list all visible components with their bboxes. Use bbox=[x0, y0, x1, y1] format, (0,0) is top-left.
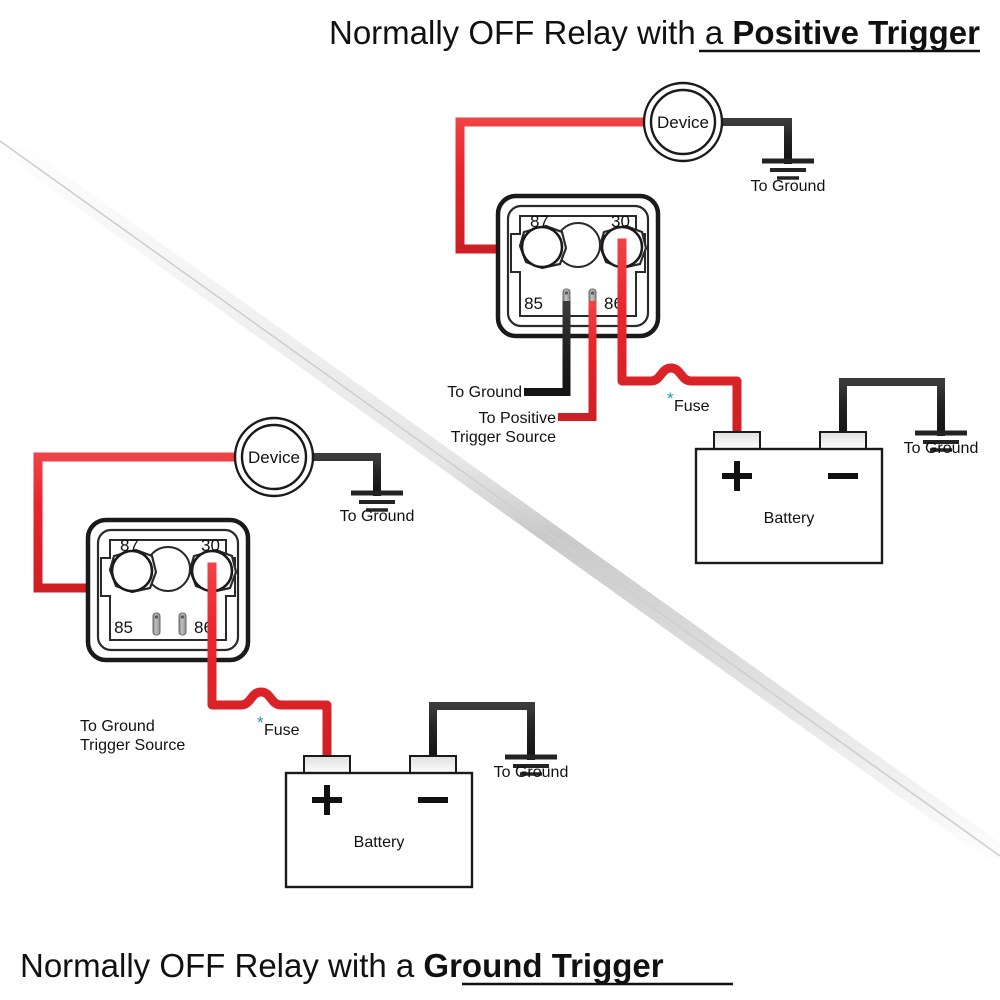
bottom-battery-label: Battery bbox=[354, 834, 405, 851]
top-coil-ground-label: To Ground bbox=[447, 384, 522, 401]
bottom-fuse-asterisk: * bbox=[257, 713, 264, 732]
top-battery-ground-label: To Ground bbox=[904, 440, 979, 457]
bottom-device-ground-label: To Ground bbox=[340, 508, 415, 525]
svg-text:Normally OFF Relay with a Posi: Normally OFF Relay with a Positive Trigg… bbox=[329, 14, 980, 51]
bottom-wire-battery-to-ground bbox=[433, 706, 531, 756]
bottom-title-emphasis: Ground Trigger bbox=[423, 947, 663, 984]
bottom-device-label: Device bbox=[248, 448, 300, 467]
bottom-label-87: 87 bbox=[120, 536, 139, 555]
bottom-terminal-87-post bbox=[110, 550, 156, 592]
bottom-label-85: 85 bbox=[114, 618, 133, 637]
top-terminal-87-post bbox=[520, 226, 566, 268]
top-device-ground-label: To Ground bbox=[751, 178, 826, 195]
top-label-85: 85 bbox=[524, 294, 543, 313]
top-fuse-asterisk: * bbox=[667, 389, 674, 408]
wiring-diagram-svg: 87 30 85 86 bbox=[0, 0, 1000, 1000]
bottom-battery-ground-label: To Ground bbox=[494, 764, 569, 781]
top-device-label: Device bbox=[657, 113, 709, 132]
top-trigger-label-line1: To Positive bbox=[479, 410, 556, 427]
top-fuse-label: Fuse bbox=[674, 398, 710, 415]
diagram-canvas: 87 30 85 86 bbox=[0, 0, 1000, 1000]
top-battery-label: Battery bbox=[764, 510, 815, 527]
bottom-trigger-label-line1: To Ground bbox=[80, 718, 155, 735]
top-diagram-group: 87 30 85 86 bbox=[447, 83, 978, 563]
top-relay-body: 87 30 85 86 bbox=[498, 196, 658, 336]
bottom-title-plain: Normally OFF Relay with a bbox=[20, 947, 423, 984]
top-title-plain: Normally OFF Relay with a bbox=[329, 14, 732, 51]
svg-text:Normally OFF Relay with a Grou: Normally OFF Relay with a Ground Trigger bbox=[20, 947, 664, 984]
bottom-battery: Battery bbox=[286, 756, 472, 887]
top-title-emphasis: Positive Trigger bbox=[732, 14, 980, 51]
top-label-87: 87 bbox=[530, 212, 549, 231]
top-wire-battery-to-ground bbox=[843, 382, 941, 432]
top-trigger-label-line2: Trigger Source bbox=[451, 429, 556, 446]
top-title: Normally OFF Relay with a Positive Trigg… bbox=[329, 14, 980, 51]
bottom-wire-device-to-ground bbox=[309, 457, 377, 492]
bottom-fuse-label: Fuse bbox=[264, 722, 300, 739]
bottom-relay-body: 87 30 85 86 bbox=[88, 520, 248, 660]
top-battery: Battery bbox=[696, 432, 882, 563]
bottom-title: Normally OFF Relay with a Ground Trigger bbox=[20, 947, 733, 984]
bottom-trigger-label-line2: Trigger Source bbox=[80, 737, 185, 754]
top-wire-device-to-ground bbox=[718, 122, 788, 160]
top-label-30: 30 bbox=[611, 212, 630, 231]
bottom-label-30: 30 bbox=[201, 536, 220, 555]
